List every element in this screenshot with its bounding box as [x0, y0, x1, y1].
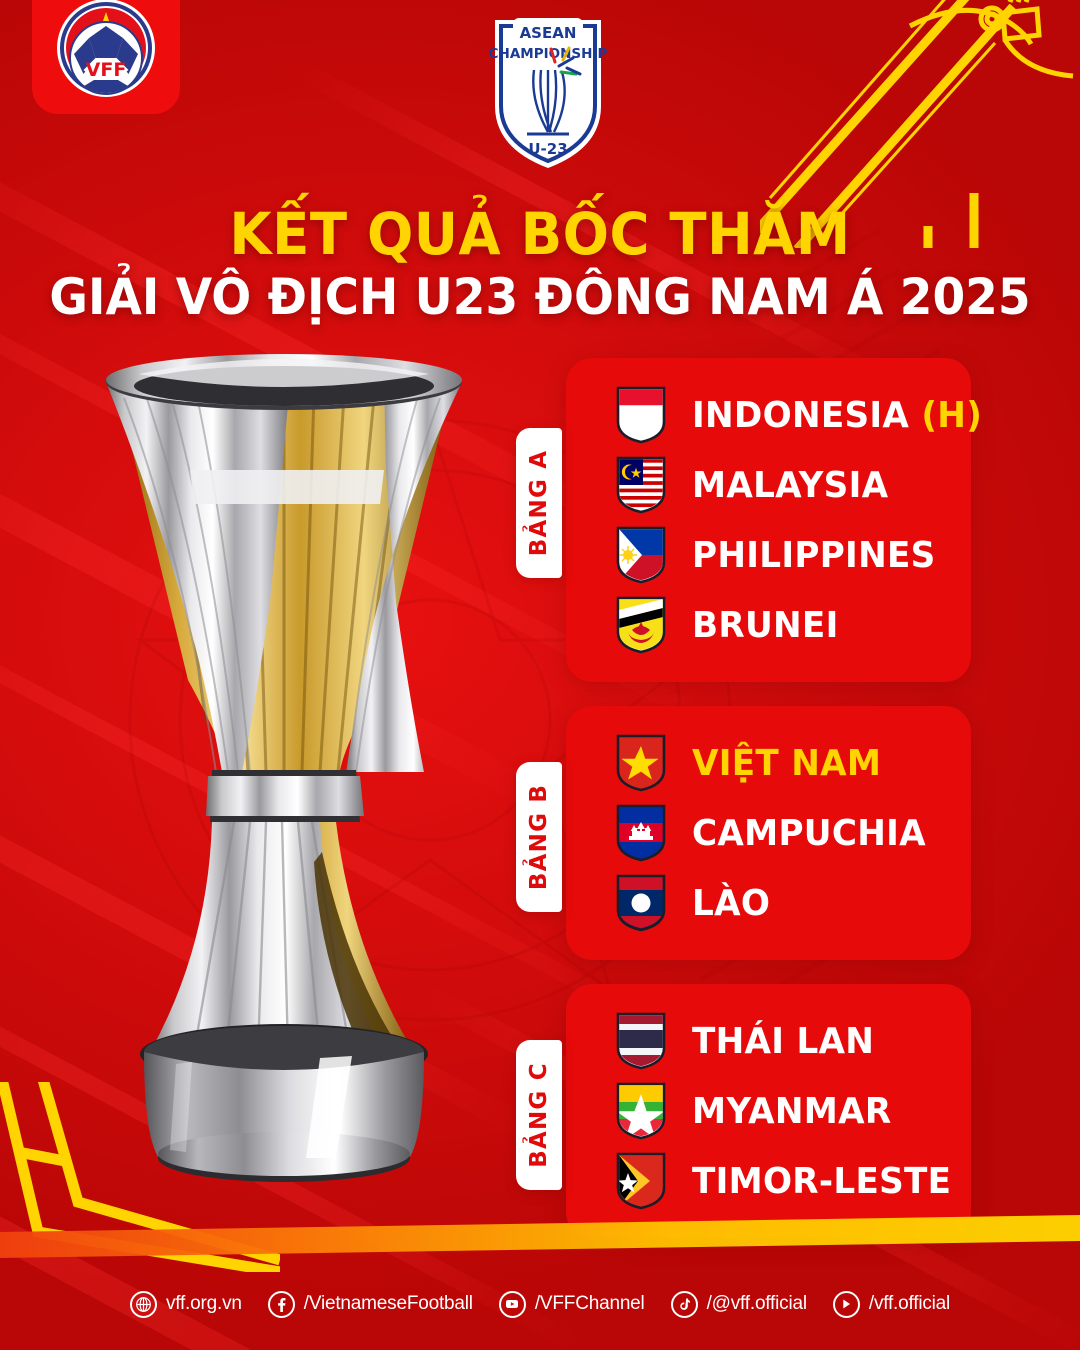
group-c-tag: BẢNG C [516, 1040, 562, 1190]
group-c-label: BẢNG C [526, 1062, 552, 1168]
team-row[interactable]: THÁI LAN [616, 1006, 953, 1076]
facebook-icon [268, 1291, 295, 1318]
team-row[interactable]: BRUNEI [616, 590, 953, 660]
globe-icon [130, 1291, 157, 1318]
team-row[interactable]: LÀO [616, 868, 953, 938]
team-name: CAMPUCHIA [692, 813, 926, 854]
team-name: LÀO [692, 883, 770, 924]
team-name: BRUNEI [692, 605, 839, 646]
group-b: BẢNG B VIỆT NAM [516, 706, 971, 960]
poster-canvas: VFF ASEAN CHAMPIONSHIP [0, 0, 1080, 1350]
group-b-label: BẢNG B [526, 784, 552, 890]
team-name: THÁI LAN [692, 1021, 874, 1062]
footer-social-bar: vff.org.vn /VietnameseFootball /VFFChann… [0, 1258, 1080, 1350]
team-row[interactable]: TIMOR-LESTE [616, 1146, 953, 1216]
team-row[interactable]: MYANMAR [616, 1076, 953, 1146]
social-link-tiktok[interactable]: /@vff.official [671, 1291, 807, 1318]
social-label: vff.org.vn [166, 1293, 242, 1315]
team-row[interactable]: PHILIPPINES [616, 520, 953, 590]
group-c: BẢNG C THÁI LAN [516, 984, 971, 1238]
groups-container: BẢNG A INDONESIA (H) [516, 358, 971, 1262]
group-a-tag: BẢNG A [516, 428, 562, 578]
title-line-1: KẾT QUẢ BỐC THĂM [32, 204, 1047, 265]
social-label: /VietnameseFootball [304, 1293, 473, 1315]
team-name: PHILIPPINES [692, 535, 936, 576]
flag-thailand-icon [616, 1012, 666, 1070]
team-row[interactable]: CAMPUCHIA [616, 798, 953, 868]
vff-crest-icon: VFF [54, 0, 158, 100]
social-link-facebook[interactable]: /VietnameseFootball [268, 1291, 473, 1318]
asean-logo-line2: CHAMPIONSHIP [489, 46, 607, 62]
social-link-youtube[interactable]: /VFFChannel [499, 1291, 645, 1318]
team-name: MYANMAR [692, 1091, 891, 1132]
asean-shield-icon: ASEAN CHAMPIONSHIP U-23 [489, 14, 607, 174]
team-name: TIMOR-LESTE [692, 1161, 951, 1202]
team-name: VIỆT NAM [692, 743, 881, 784]
social-label: /@vff.official [707, 1293, 807, 1315]
group-a: BẢNG A INDONESIA (H) [516, 358, 971, 682]
flag-vietnam-icon [616, 734, 666, 792]
team-name: MALAYSIA [692, 465, 888, 506]
flag-indonesia-icon [616, 386, 666, 444]
flag-timorleste-icon [616, 1152, 666, 1210]
team-name: INDONESIA (H) [692, 395, 982, 436]
asean-logo-line3: U-23 [528, 140, 567, 158]
flag-cambodia-icon [616, 804, 666, 862]
team-row[interactable]: VIỆT NAM [616, 728, 953, 798]
group-a-label: BẢNG A [526, 450, 552, 556]
group-b-tag: BẢNG B [516, 762, 562, 912]
team-row[interactable]: MALAYSIA [616, 450, 953, 520]
social-link-zalo[interactable]: /vff.official [833, 1291, 950, 1318]
flag-myanmar-icon [616, 1082, 666, 1140]
group-a-panel: INDONESIA (H) [566, 358, 971, 682]
social-label: /VFFChannel [535, 1293, 645, 1315]
group-b-panel: VIỆT NAM [566, 706, 971, 960]
tiktok-icon [671, 1291, 698, 1318]
title-line-2: GIẢI VÔ ĐỊCH U23 ĐÔNG NAM Á 2025 [32, 269, 1047, 325]
social-label: /vff.official [869, 1293, 950, 1315]
social-link-website[interactable]: vff.org.vn [130, 1291, 242, 1318]
youtube-icon [499, 1291, 526, 1318]
host-marker: (H) [921, 395, 982, 436]
flag-brunei-icon [616, 596, 666, 654]
team-label: INDONESIA [692, 395, 909, 436]
vff-logo: VFF [32, 0, 180, 114]
flag-malaysia-icon [616, 456, 666, 514]
vff-logo-text: VFF [86, 59, 127, 81]
asean-logo-line1: ASEAN [520, 24, 577, 42]
group-c-panel: THÁI LAN MYANMAR [566, 984, 971, 1238]
flag-laos-icon [616, 874, 666, 932]
trophy-illustration [84, 352, 484, 1232]
flag-philippines-icon [616, 526, 666, 584]
team-row[interactable]: INDONESIA (H) [616, 380, 953, 450]
asean-championship-u23-logo: ASEAN CHAMPIONSHIP U-23 [489, 14, 607, 174]
zalo-icon [833, 1291, 860, 1318]
poster-title: KẾT QUẢ BỐC THĂM GIẢI VÔ ĐỊCH U23 ĐÔNG N… [0, 204, 1080, 325]
